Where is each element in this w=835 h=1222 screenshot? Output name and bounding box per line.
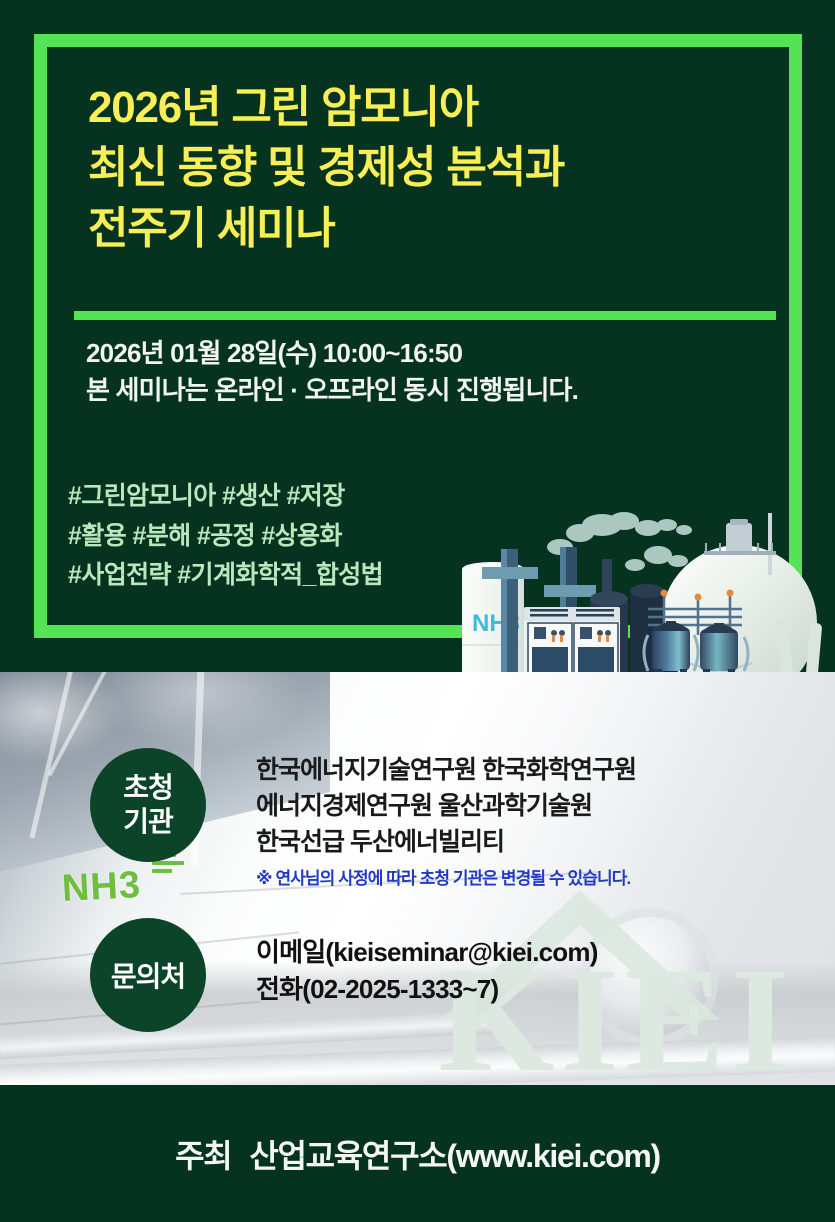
event-info: 2026년 01월 28일(수) 10:00~16:50 본 세미나는 온라인 … [86,335,746,409]
title-divider [74,311,776,320]
host-name[interactable]: 산업교육연구소(www.kiei.com) [249,1138,660,1174]
title-line-2: 최신 동향 및 경제성 분석과 [88,138,738,198]
title-line-1: 2026년 그린 암모니아 [88,78,738,138]
host-label: 주최 [175,1138,231,1174]
machinery-cabinets [524,607,620,672]
frame-border-top [34,34,802,47]
event-mode: 본 세미나는 온라인 · 오프라인 동시 진행됩니다. [86,372,746,409]
contact-details: 이메일(kieiseminar@kiei.com) 전화(02-2025-133… [256,934,816,1008]
seminar-poster: 2026년 그린 암모니아 최신 동향 및 경제성 분석과 전주기 세미나 20… [0,0,835,1222]
footer-content: 주최산업교육연구소(www.kiei.com) [175,1131,660,1177]
poster-footer: 주최산업교육연구소(www.kiei.com) [0,1085,835,1222]
nh3-tank-label: NH3 [61,864,142,911]
page-title: 2026년 그린 암모니아 최신 동향 및 경제성 분석과 전주기 세미나 [88,78,738,259]
event-datetime: 2026년 01월 28일(수) 10:00~16:50 [86,335,746,372]
ammonia-plant-illustration: NH3 [452,495,835,672]
invited-organizations-badge: 초청 기관 [90,748,206,862]
frame-border-left [34,34,47,638]
invited-badge-line-2: 기관 [123,805,173,839]
organization-line-3: 한국선급 두산에너빌리티 [256,824,816,860]
contact-phone[interactable]: 전화(02-2025-1333~7) [256,971,816,1008]
invited-organizations-list: 한국에너지기술연구원 한국화학연구원 에너지경제연구원 울산과학기술원 한국선급… [256,752,816,889]
invited-organizations-note: ※ 연사님의 사정에 따라 초청 기관은 변경될 수 있습니다. [256,864,816,889]
title-line-3: 전주기 세미나 [88,199,738,259]
invited-badge-line-1: 초청 [123,771,173,805]
poster-header-panel: 2026년 그린 암모니아 최신 동향 및 경제성 분석과 전주기 세미나 20… [0,0,835,672]
organization-line-2: 에너지경제연구원 울산과학기술원 [256,788,816,824]
contact-badge: 문의처 [90,918,206,1032]
contact-badge-label: 문의처 [111,955,185,995]
contact-email[interactable]: 이메일(kieiseminar@kiei.com) [256,934,816,971]
organization-line-1: 한국에너지기술연구원 한국화학연구원 [256,752,816,788]
